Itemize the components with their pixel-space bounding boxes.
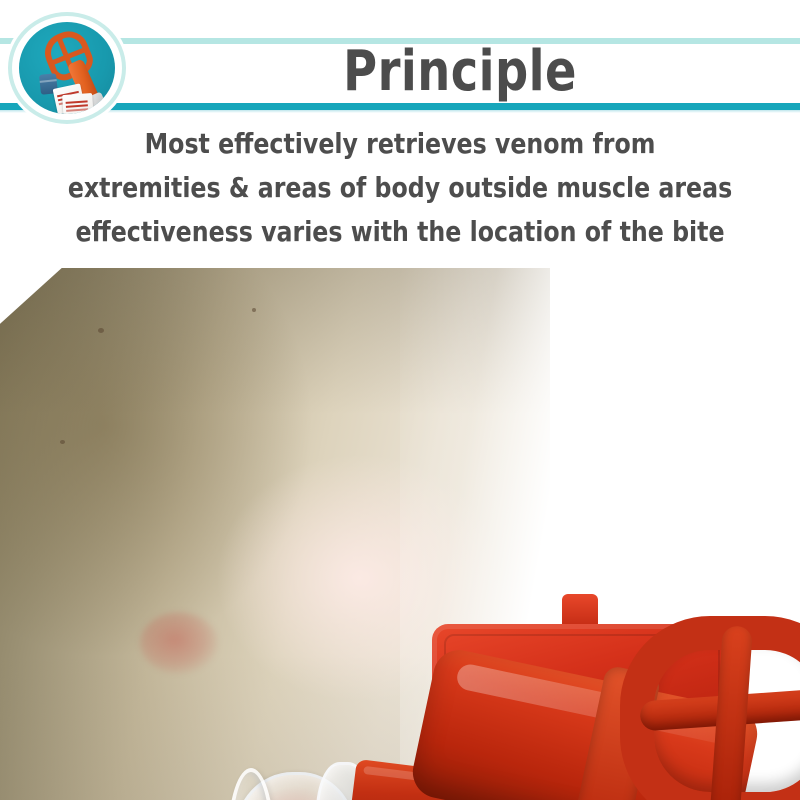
subtitle-block: Most effectively retrieves venom from ex…	[40, 122, 760, 254]
subtitle-line-3: effectiveness varies with the location o…	[62, 210, 739, 254]
infographic-page: Principle Most effectively retrieves ven…	[0, 0, 800, 800]
venom-extractor-in-use-photo: ol Pad FOR PROFESSIONAL AND HOSP FOR PRO…	[0, 268, 800, 800]
skin-mark-3	[252, 308, 256, 312]
red-pump-loop-handle	[620, 616, 800, 800]
bite-mark	[140, 612, 218, 674]
badge-alcohol-pad-icon-2	[62, 93, 94, 114]
badge-pad-text-lines-2	[66, 100, 88, 104]
badge-inner-circle	[19, 22, 115, 114]
page-title-text: Principle	[343, 44, 577, 100]
subtitle-line-2: extremities & areas of body outside musc…	[62, 166, 739, 210]
venom-extractor-kit-badge	[8, 12, 126, 124]
skin-mark-2	[60, 440, 65, 444]
skin-mark-1	[98, 328, 104, 333]
header-section: Principle Most effectively retrieves ven…	[0, 0, 800, 268]
clear-suction-cup	[228, 758, 370, 800]
subtitle-line-1: Most effectively retrieves venom from	[62, 122, 739, 166]
page-title: Principle	[130, 34, 790, 110]
